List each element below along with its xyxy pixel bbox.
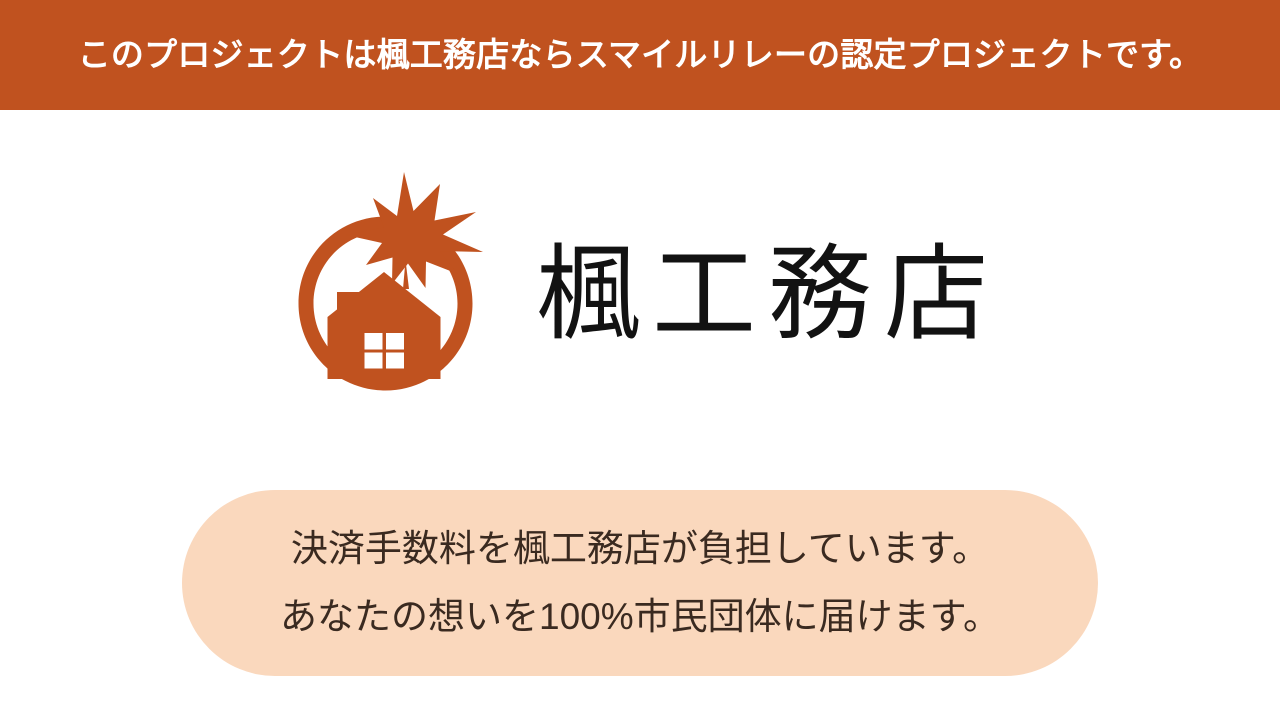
window-four-pane-icon bbox=[360, 329, 407, 372]
certification-banner: このプロジェクトは楓工務店ならスマイルリレーの認定プロジェクトです。 bbox=[0, 0, 1280, 110]
banner-message: このプロジェクトは楓工務店ならスマイルリレーの認定プロジェクトです。 bbox=[78, 37, 1203, 73]
fee-coverage-note: 決済手数料を楓工務店が負担しています。 あなたの想いを100%市民団体に届けます… bbox=[182, 490, 1098, 676]
note-line-2: あなたの想いを100%市民団体に届けます。 bbox=[280, 597, 1000, 638]
logo-wordmark: 楓工務店 bbox=[536, 243, 1000, 347]
house-icon bbox=[327, 272, 440, 379]
logo-section: 楓工務店 bbox=[0, 110, 1280, 480]
promo-page: このプロジェクトは楓工務店ならスマイルリレーの認定プロジェクトです。 bbox=[0, 0, 1280, 720]
logo-lockup: 楓工務店 bbox=[280, 164, 1000, 414]
note-line-1: 決済手数料を楓工務店が負担しています。 bbox=[291, 529, 989, 570]
maple-house-circle-logo bbox=[280, 164, 490, 414]
